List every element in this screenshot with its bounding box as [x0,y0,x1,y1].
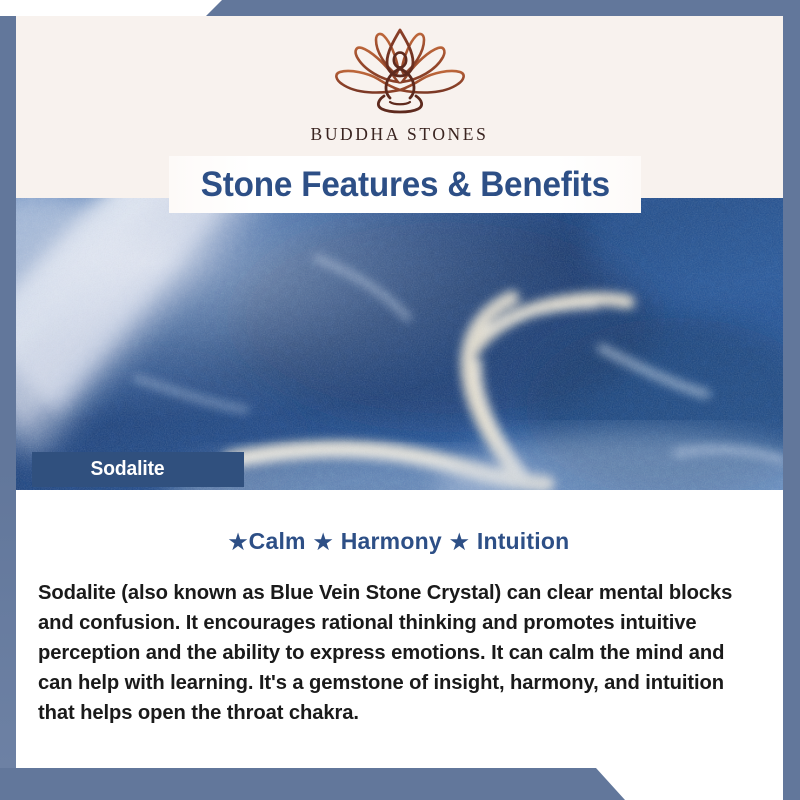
keyword-harmony: Harmony [341,528,442,554]
title-banner: Stone Features & Benefits [169,156,641,213]
page-title: Stone Features & Benefits [200,165,609,205]
stone-info-poster: BUDDHA STONES [0,0,800,800]
stone-photo [16,198,783,490]
keyword-calm: Calm [249,528,306,554]
brand-name: BUDDHA STONES [311,124,489,145]
brand-logo: BUDDHA STONES [16,24,783,145]
poster-card: BUDDHA STONES [16,16,783,768]
keyword-intuition: Intuition [477,528,570,554]
frame-band-right [783,0,800,800]
star-icon-3: ★ [450,531,469,554]
frame-band-bottom [0,768,800,800]
stone-name: Sodalite [91,458,165,481]
sodalite-texture-graphic [16,198,783,490]
stone-description: Sodalite (also known as Blue Vein Stone … [38,578,750,728]
star-icon-2: ★ [314,531,333,554]
stone-keywords: ★Calm★Harmony★Intuition [16,528,783,555]
stone-name-bar: Sodalite [32,452,244,487]
lotus-meditation-icon [316,24,484,120]
frame-band-left [0,16,16,768]
stone-body-panel: ★Calm★Harmony★Intuition Sodalite (also k… [16,490,783,768]
frame-band-top [0,0,800,16]
star-icon-1: ★ [229,531,248,554]
